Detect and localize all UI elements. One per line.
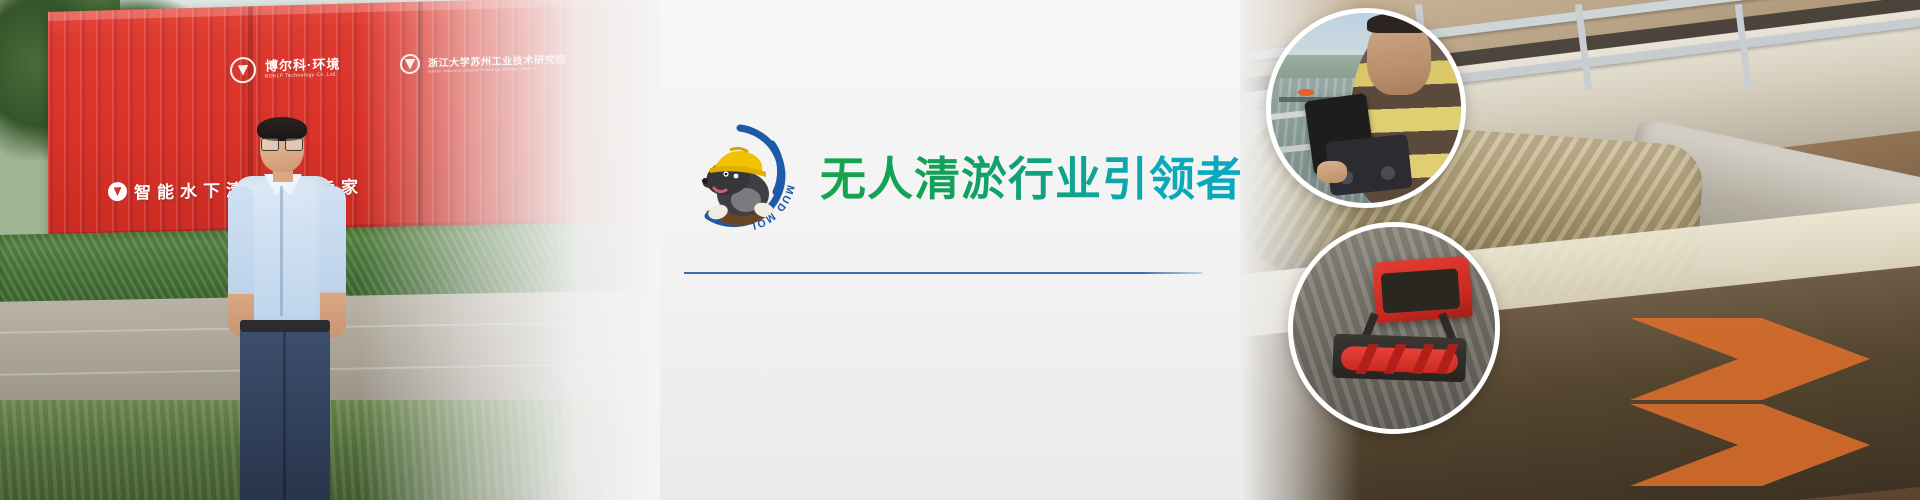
boklp-logo-icon (230, 57, 256, 84)
mud-mole-logo: MUD MOLE (684, 120, 796, 232)
mud-mole-logo-icon: MUD MOLE (684, 120, 796, 232)
center-panel: MUD MOLE 无人清淤行业引领者 (660, 0, 1260, 500)
brand-row: MUD MOLE 无人清淤行业引领者 (660, 120, 1260, 232)
dredging-robot-photo (1288, 222, 1500, 434)
slogan-badge-icon (108, 182, 127, 201)
hero-banner: 博尔科·环境 BOKLP Technology Co.,Ltd. 浙江大学苏州工… (0, 0, 1920, 500)
eyeglasses (261, 138, 303, 149)
left-photo-fade (360, 0, 660, 500)
banner-headline: 无人清淤行业引领者 (820, 143, 1243, 209)
operator-console-photo (1266, 8, 1466, 208)
headline-divider (684, 272, 1202, 274)
container-brand-lockup: 博尔科·环境 BOKLP Technology Co.,Ltd. (230, 54, 340, 83)
person-figure (228, 120, 346, 500)
container-brand-en: BOKLP Technology Co.,Ltd. (265, 72, 340, 80)
left-photo: 博尔科·环境 BOKLP Technology Co.,Ltd. 浙江大学苏州工… (0, 0, 660, 500)
